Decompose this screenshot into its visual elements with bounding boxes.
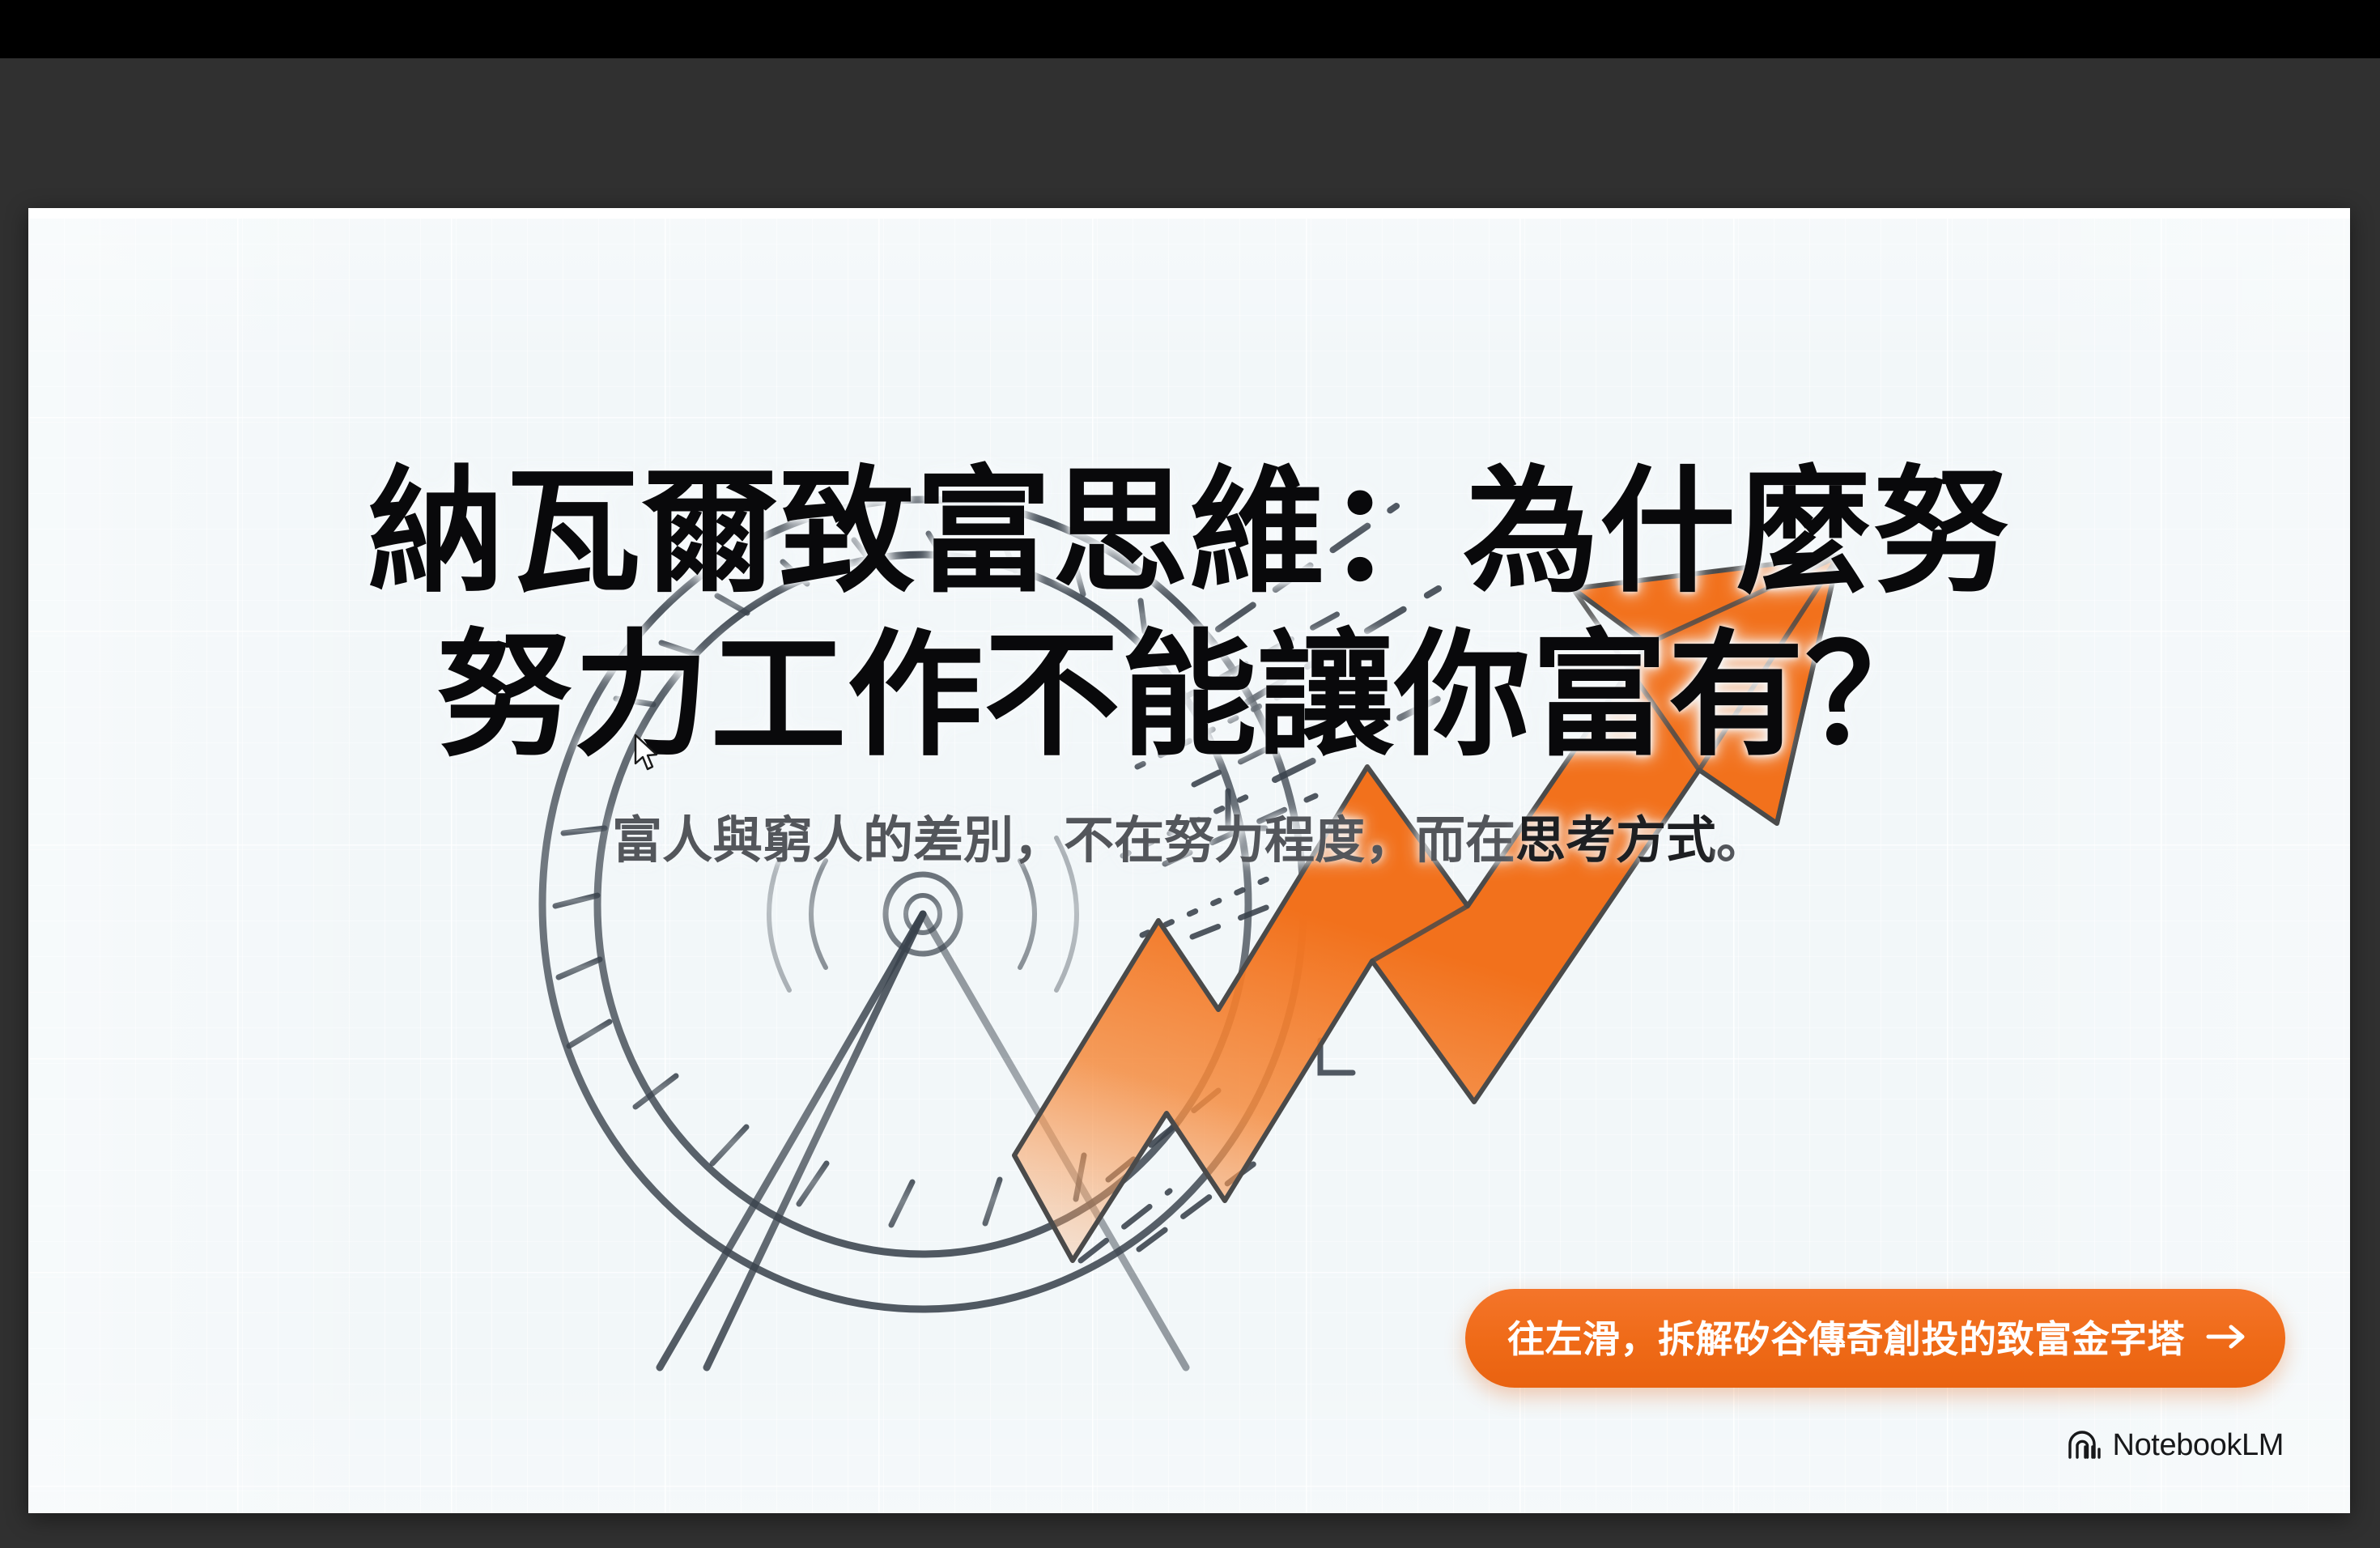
notebooklm-label: NotebookLM [2113,1428,2284,1463]
card-top-highlight [28,208,2350,219]
page-title-line-1: 納瓦爾致富思維：為什麼努 [28,451,2350,615]
slide-card[interactable]: 納瓦爾致富思維：為什麼努 努力工作不能讓你富有？ 富人與窮人的差別，不在努力程度… [28,208,2350,1513]
subtitle-prefix: 富人與窮人的差別，不在努力程度，而在 [612,813,1515,869]
subtitle-emphasis: 思考方式 [1515,813,1716,869]
notebooklm-spiral-icon [2066,1430,2102,1462]
screen-viewport: 納瓦爾致富思維：為什麼努 努力工作不能讓你富有？ 富人與窮人的差別，不在努力程度… [0,0,2380,1548]
slide-text-block: 納瓦爾致富思維：為什麼努 努力工作不能讓你富有？ 富人與窮人的差別，不在努力程度… [28,451,2350,877]
cta-label: 往左滑，拆解矽谷傳奇創投的致富金字塔 [1507,1310,2185,1363]
swipe-left-cta-button[interactable]: 往左滑，拆解矽谷傳奇創投的致富金字塔 [1465,1289,2285,1388]
slide-subtitle: 富人與窮人的差別，不在努力程度，而在思考方式。 [28,806,2350,877]
subtitle-suffix: 。 [1716,813,1766,869]
notebooklm-badge: NotebookLM [2066,1428,2284,1463]
page-title-line-2: 努力工作不能讓你富有？ [28,615,2350,778]
app-window-background: 納瓦爾致富思維：為什麼努 努力工作不能讓你富有？ 富人與窮人的差別，不在努力程度… [0,58,2380,1548]
arrow-right-icon [2206,1325,2246,1349]
